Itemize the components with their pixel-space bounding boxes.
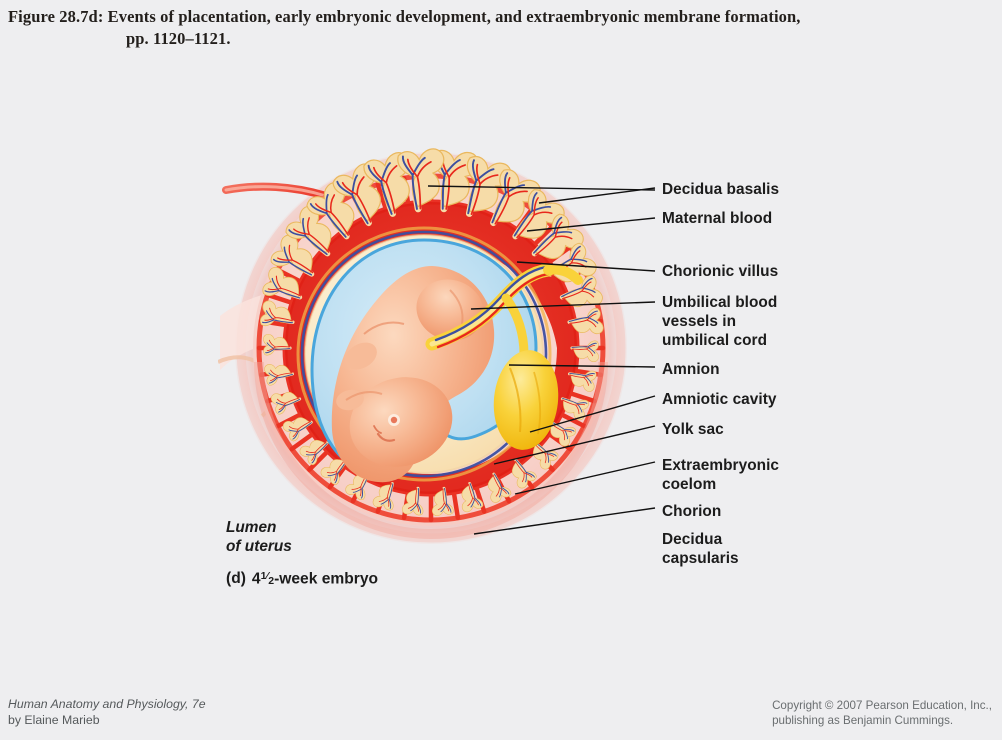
label-chorionic-villus: Chorionic villus	[662, 262, 778, 281]
label-umbilical-blood-vessels: Umbilical blood vessels in umbilical cor…	[662, 293, 777, 350]
label-extraembryonic-coelom: Extraembryonic coelom	[662, 456, 779, 494]
label-amniotic-cavity: Amniotic cavity	[662, 390, 777, 409]
label-maternal-blood: Maternal blood	[662, 209, 772, 228]
label-amnion: Amnion	[662, 360, 720, 379]
label-decidua-basalis: Decidua basalis	[662, 180, 779, 199]
figure-caption: Figure 28.7d: Events of placentation, ea…	[8, 6, 988, 50]
figure-page: Figure 28.7d: Events of placentation, ea…	[0, 0, 1002, 740]
label-lumen-of-uterus: Lumen of uterus	[226, 518, 292, 556]
label-chorion: Chorion	[662, 502, 721, 521]
figure-number: Figure 28.7d:	[8, 7, 103, 26]
panel-letter: (d)	[226, 570, 246, 587]
panel-caption-prefix: 4	[252, 570, 261, 587]
placenta-embryo-illustration	[218, 148, 648, 568]
copyright-line-1: Copyright © 2007 Pearson Education, Inc.…	[772, 698, 992, 713]
book-title: Human Anatomy and Physiology, 7e	[8, 696, 206, 712]
footer-source: Human Anatomy and Physiology, 7e by Elai…	[8, 696, 206, 728]
panel-caption: (d)41⁄2-week embryo	[226, 570, 378, 588]
panel-caption-suffix: -week embryo	[274, 570, 378, 587]
book-author: by Elaine Marieb	[8, 712, 206, 728]
figure-title: Events of placentation, early embryonic …	[108, 7, 801, 26]
copyright-line-2: publishing as Benjamin Cummings.	[772, 713, 992, 728]
label-decidua-capsularis: Decidua capsularis	[662, 530, 739, 568]
footer-copyright: Copyright © 2007 Pearson Education, Inc.…	[772, 698, 992, 728]
label-yolk-sac: Yolk sac	[662, 420, 724, 439]
figure-pages: pp. 1120–1121.	[126, 28, 988, 50]
